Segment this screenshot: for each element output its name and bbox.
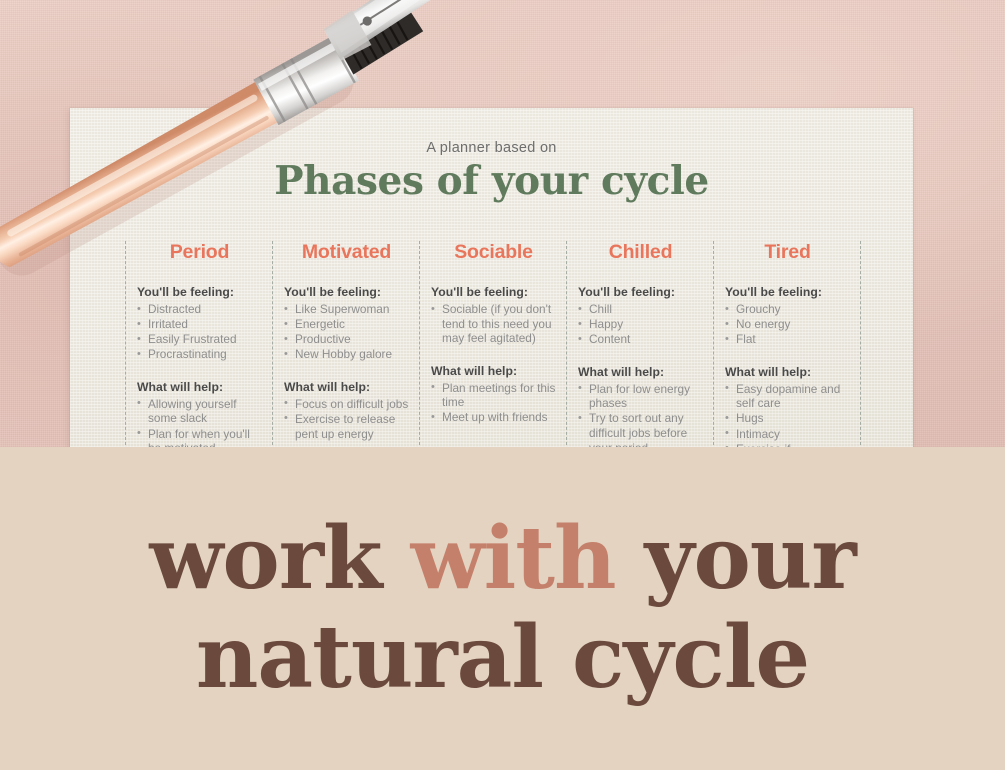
feeling-list: DistractedIrritatedEasily FrustratedProc… [137, 302, 262, 362]
list-item: Chill [578, 302, 703, 317]
feeling-list: ChillHappyContent [578, 302, 703, 347]
banner-word-your: your [616, 508, 856, 609]
planner-title: Phases of your cycle [70, 162, 913, 201]
help-heading: What will help: [725, 365, 850, 379]
list-item: Easy dopamine and self care [725, 382, 850, 411]
help-heading: What will help: [578, 365, 703, 379]
column-divider-1 [272, 241, 273, 450]
phase-column-sociable: SociableYou'll be feeling:Sociable (if y… [419, 241, 566, 450]
feeling-list: Sociable (if you don't tend to this need… [431, 302, 556, 346]
list-item: No energy [725, 317, 850, 332]
list-item: Sociable (if you don't tend to this need… [431, 302, 556, 346]
planner-kicker: A planner based on [70, 140, 913, 156]
list-item: Meet up with friends [431, 410, 556, 425]
banner-line-2: natural cycle [196, 617, 809, 700]
feeling-heading: You'll be feeling: [431, 285, 556, 299]
help-heading: What will help: [431, 364, 556, 378]
phase-column-tired: TiredYou'll be feeling:GrouchyNo energyF… [713, 241, 860, 450]
phase-title: Sociable [431, 241, 556, 264]
list-item: Distracted [137, 302, 262, 317]
list-item: Focus on difficult jobs [284, 397, 409, 412]
feeling-heading: You'll be feeling: [725, 285, 850, 299]
list-item: Grouchy [725, 302, 850, 317]
phase-title: Motivated [284, 241, 409, 264]
list-item: Productive [284, 332, 409, 347]
phase-title: Chilled [578, 241, 703, 264]
phase-column-chilled: ChilledYou'll be feeling:ChillHappyConte… [566, 241, 713, 450]
list-item: Energetic [284, 317, 409, 332]
feeling-list: GrouchyNo energyFlat [725, 302, 850, 347]
column-divider-4 [713, 241, 714, 450]
phase-title: Tired [725, 241, 850, 264]
help-list: Plan for low energy phasesTry to sort ou… [578, 382, 703, 455]
list-item: Content [578, 332, 703, 347]
list-item: Procrastinating [137, 347, 262, 362]
column-divider-3 [566, 241, 567, 450]
column-divider-5 [860, 241, 861, 450]
feeling-heading: You'll be feeling: [137, 285, 262, 299]
list-item: Easily Frustrated [137, 332, 262, 347]
help-list: Plan meetings for this timeMeet up with … [431, 381, 556, 425]
feeling-heading: You'll be feeling: [284, 285, 409, 299]
list-item: Plan meetings for this time [431, 381, 556, 410]
help-heading: What will help: [137, 380, 262, 394]
banner-word-work: work [149, 508, 410, 609]
list-item: Exercise to release pent up energy [284, 412, 409, 441]
help-heading: What will help: [284, 380, 409, 394]
phase-title: Period [137, 241, 262, 264]
list-item: Plan for low energy phases [578, 382, 703, 411]
list-item: Irritated [137, 317, 262, 332]
bottom-banner: work with your natural cycle [0, 447, 1005, 770]
column-divider-0 [125, 241, 126, 450]
list-item: New Hobby galore [284, 347, 409, 362]
list-item: Flat [725, 332, 850, 347]
list-item: Like Superwoman [284, 302, 409, 317]
feeling-list: Like SuperwomanEnergeticProductiveNew Ho… [284, 302, 409, 362]
list-item: Intimacy [725, 427, 850, 442]
help-list: Easy dopamine and self careHugsIntimacyE… [725, 382, 850, 456]
list-item: Hugs [725, 411, 850, 426]
phase-column-motivated: MotivatedYou'll be feeling:Like Superwom… [272, 241, 419, 450]
phase-columns: PeriodYou'll be feeling:DistractedIrrita… [125, 241, 930, 450]
column-divider-2 [419, 241, 420, 450]
banner-line-1: work with your [149, 518, 855, 601]
phase-column-period: PeriodYou'll be feeling:DistractedIrrita… [125, 241, 272, 450]
planner-header: A planner based on Phases of your cycle [70, 140, 913, 201]
list-item: Happy [578, 317, 703, 332]
planner-sheet: A planner based on Phases of your cycle … [70, 108, 913, 450]
feeling-heading: You'll be feeling: [578, 285, 703, 299]
list-item: Allowing yourself some slack [137, 397, 262, 426]
banner-word-with: with [411, 508, 616, 609]
help-list: Focus on difficult jobsExercise to relea… [284, 397, 409, 441]
